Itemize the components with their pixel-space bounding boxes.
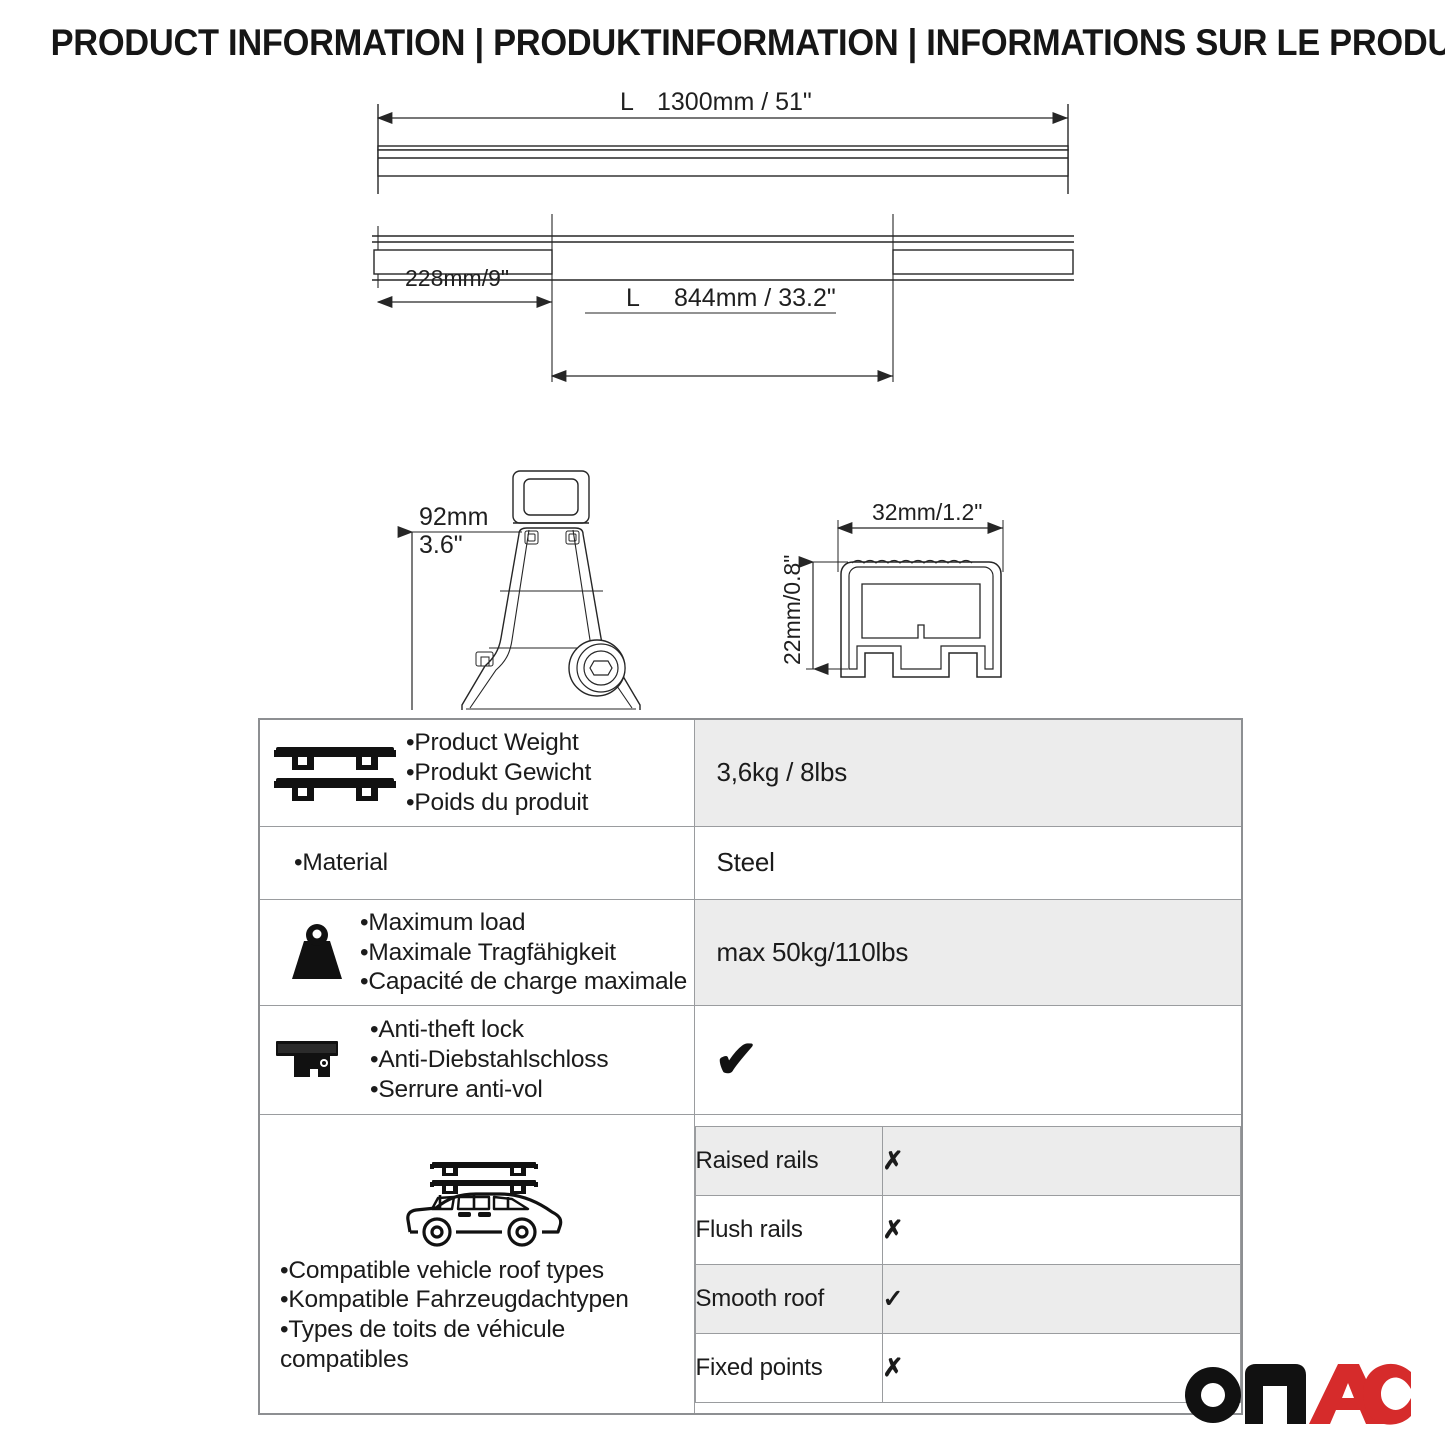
- omac-logo: [1183, 1358, 1413, 1428]
- weight-value: 3,6kg / 8lbs: [695, 747, 1242, 798]
- spread-prefix: L: [626, 284, 640, 312]
- roof-type-row: Flush rails ✗: [695, 1195, 1241, 1264]
- car-with-rack-icon: [396, 1154, 572, 1250]
- label-line: •Product Weight: [406, 728, 591, 758]
- label-line: •Compatible vehicle roof types: [280, 1256, 640, 1286]
- technical-drawing: L 1300mm / 51" 228mm/9" L 844mm / 33.2" …: [0, 80, 1445, 710]
- lock-value-cell: ✔: [694, 1006, 1242, 1115]
- material-label-cell: •Material: [259, 826, 694, 899]
- roof-type-mark: ✗: [882, 1126, 1241, 1195]
- roof-type-name: Raised rails: [695, 1126, 882, 1195]
- material-label-text: •Material: [294, 848, 388, 878]
- table-row: •Material Steel: [259, 826, 1242, 899]
- check-icon: ✔: [695, 1030, 1242, 1090]
- material-value: Steel: [695, 837, 1242, 888]
- maxload-value-cell: max 50kg/110lbs: [694, 899, 1242, 1006]
- roof-type-name: Fixed points: [695, 1333, 882, 1402]
- label-line: •Produkt Gewicht: [406, 758, 591, 788]
- roof-type-name: Flush rails: [695, 1195, 882, 1264]
- weight-label-text: •Product Weight •Produkt Gewicht •Poids …: [406, 728, 591, 818]
- weight-value-cell: 3,6kg / 8lbs: [694, 719, 1242, 826]
- profile-width-value: 32mm/1.2": [872, 499, 982, 525]
- label-line: •Capacité de charge maximale: [360, 967, 687, 997]
- label-line: •Anti-theft lock: [370, 1015, 608, 1045]
- spread-value: 844mm / 33.2": [674, 284, 836, 312]
- roof-types-table: Raised rails ✗ Flush rails ✗ Smooth roof…: [695, 1126, 1242, 1403]
- weight-icon: [284, 921, 350, 983]
- compatibility-label-cell: •Compatible vehicle roof types •Kompatib…: [259, 1115, 694, 1415]
- maxload-label-text: •Maximum load •Maximale Tragfähigkeit •C…: [360, 908, 687, 998]
- weight-label-cell: •Product Weight •Produkt Gewicht •Poids …: [259, 719, 694, 826]
- crossbars-pair-icon: [274, 742, 396, 804]
- roof-type-mark: ✗: [882, 1195, 1241, 1264]
- maxload-value: max 50kg/110lbs: [695, 927, 1242, 978]
- label-line: •Poids du produit: [406, 788, 591, 818]
- label-line: •Types de toits de véhicule compatibles: [280, 1315, 640, 1375]
- label-line: •Maximale Tragfähigkeit: [360, 938, 687, 968]
- table-row: •Anti-theft lock •Anti-Diebstahlschloss …: [259, 1006, 1242, 1115]
- label-line: •Serrure anti-vol: [370, 1075, 608, 1105]
- foot-height-line2: 3.6": [419, 531, 463, 559]
- compatibility-label-text: •Compatible vehicle roof types •Kompatib…: [280, 1256, 640, 1376]
- roof-type-name: Smooth roof: [695, 1264, 882, 1333]
- page-header: PRODUCT INFORMATION | PRODUKTINFORMATION…: [0, 22, 1445, 64]
- label-line: •Anti-Diebstahlschloss: [370, 1045, 608, 1075]
- table-row: •Maximum load •Maximale Tragfähigkeit •C…: [259, 899, 1242, 1006]
- roof-type-mark: ✓: [882, 1264, 1241, 1333]
- lock-icon: [274, 1037, 344, 1083]
- roof-type-row: Smooth roof ✓: [695, 1264, 1241, 1333]
- table-row: •Product Weight •Produkt Gewicht •Poids …: [259, 719, 1242, 826]
- bar-length-prefix: L: [620, 88, 634, 116]
- specification-table: •Product Weight •Produkt Gewicht •Poids …: [258, 718, 1243, 1415]
- bar-length-value: 1300mm / 51": [657, 88, 812, 116]
- end-offset-value: 228mm/9": [405, 265, 509, 291]
- label-line: •Kompatible Fahrzeugdachtypen: [280, 1285, 640, 1315]
- lock-label-cell: •Anti-theft lock •Anti-Diebstahlschloss …: [259, 1006, 694, 1115]
- profile-height-value: 22mm/0.8": [779, 555, 805, 665]
- label-line: •Maximum load: [360, 908, 687, 938]
- maxload-label-cell: •Maximum load •Maximale Tragfähigkeit •C…: [259, 899, 694, 1006]
- table-row: •Compatible vehicle roof types •Kompatib…: [259, 1115, 1242, 1415]
- foot-height-line1: 92mm: [419, 503, 488, 531]
- material-value-cell: Steel: [694, 826, 1242, 899]
- roof-types-cell: Raised rails ✗ Flush rails ✗ Smooth roof…: [694, 1115, 1242, 1415]
- page-title: PRODUCT INFORMATION | PRODUKTINFORMATION…: [51, 22, 1395, 64]
- roof-type-row: Fixed points ✗: [695, 1333, 1241, 1402]
- roof-type-row: Raised rails ✗: [695, 1126, 1241, 1195]
- lock-label-text: •Anti-theft lock •Anti-Diebstahlschloss …: [370, 1015, 608, 1105]
